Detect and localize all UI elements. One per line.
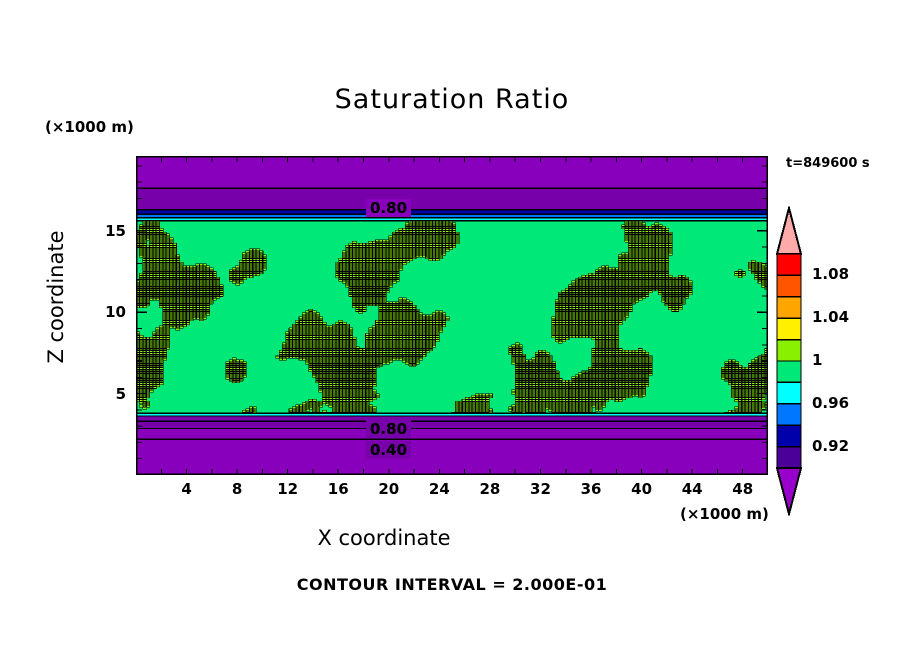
- colorbar-band-5: [777, 361, 801, 382]
- contour-interval-caption: CONTOUR INTERVAL = 2.000E-01: [0, 575, 904, 594]
- x-tick-label: 12: [268, 480, 308, 498]
- colorbar-band-4: [777, 340, 801, 361]
- contour-band-lower-purple-a: [136, 416, 768, 421]
- colorbar-band-7: [777, 404, 801, 425]
- x-tick-label: 36: [571, 480, 611, 498]
- x-tick-label: 44: [672, 480, 712, 498]
- y-tick-label: 10: [90, 303, 126, 321]
- contour-value-label: 0.80: [366, 421, 410, 438]
- x-tick-label: 16: [318, 480, 358, 498]
- contour-plot: [136, 156, 768, 475]
- timestamp-label: t=849600 s: [786, 156, 870, 171]
- contour-band-spring-green: [136, 221, 768, 416]
- contour-band-surface-purple: [136, 439, 768, 475]
- colorbar-band-8: [777, 425, 801, 446]
- colorbar: [775, 206, 811, 520]
- x-axis-units-label: (×1000 m): [680, 505, 769, 523]
- contour-value-label: 0.40: [366, 442, 410, 459]
- colorbar-band-0: [777, 254, 801, 275]
- contour-band-lower-purple-b: [136, 421, 768, 428]
- colorbar-cap-top: [777, 208, 801, 254]
- colorbar-tick-label: 1: [812, 351, 822, 369]
- y-tick-label: 15: [90, 222, 126, 240]
- x-tick-label: 48: [723, 480, 763, 498]
- colorbar-tick-label: 1.04: [812, 308, 849, 326]
- colorbar-cap-bottom: [777, 468, 801, 514]
- contour-band-top-purple: [136, 156, 768, 188]
- x-tick-label: 4: [167, 480, 207, 498]
- x-tick-label: 32: [520, 480, 560, 498]
- colorbar-band-1: [777, 275, 801, 296]
- colorbar-tick-label: 1.08: [812, 265, 849, 283]
- colorbar-tick-label: 0.92: [812, 437, 849, 455]
- colorbar-tick-label: 0.96: [812, 394, 849, 412]
- page-title: Saturation Ratio: [0, 84, 904, 115]
- x-axis-title: X coordinate: [0, 526, 768, 550]
- contour-band-lower-purple-c: [136, 429, 768, 440]
- contour-plot-svg: [136, 156, 768, 475]
- x-tick-label: 40: [622, 480, 662, 498]
- colorbar-band-6: [777, 382, 801, 403]
- colorbar-band-3: [777, 318, 801, 339]
- x-tick-label: 8: [217, 480, 257, 498]
- colorbar-svg: [775, 206, 811, 516]
- contour-band-navy: [136, 210, 768, 215]
- x-tick-label: 24: [419, 480, 459, 498]
- x-tick-label: 28: [470, 480, 510, 498]
- contour-value-label: 0.80: [366, 200, 410, 217]
- y-axis-title: Z coordinate: [44, 197, 68, 397]
- contour-band-upper-mid-purple: [136, 188, 768, 209]
- y-axis-units-label: (×1000 m): [45, 118, 134, 136]
- y-tick-label: 5: [90, 385, 126, 403]
- colorbar-band-2: [777, 297, 801, 318]
- colorbar-band-9: [777, 447, 801, 468]
- x-tick-label: 20: [369, 480, 409, 498]
